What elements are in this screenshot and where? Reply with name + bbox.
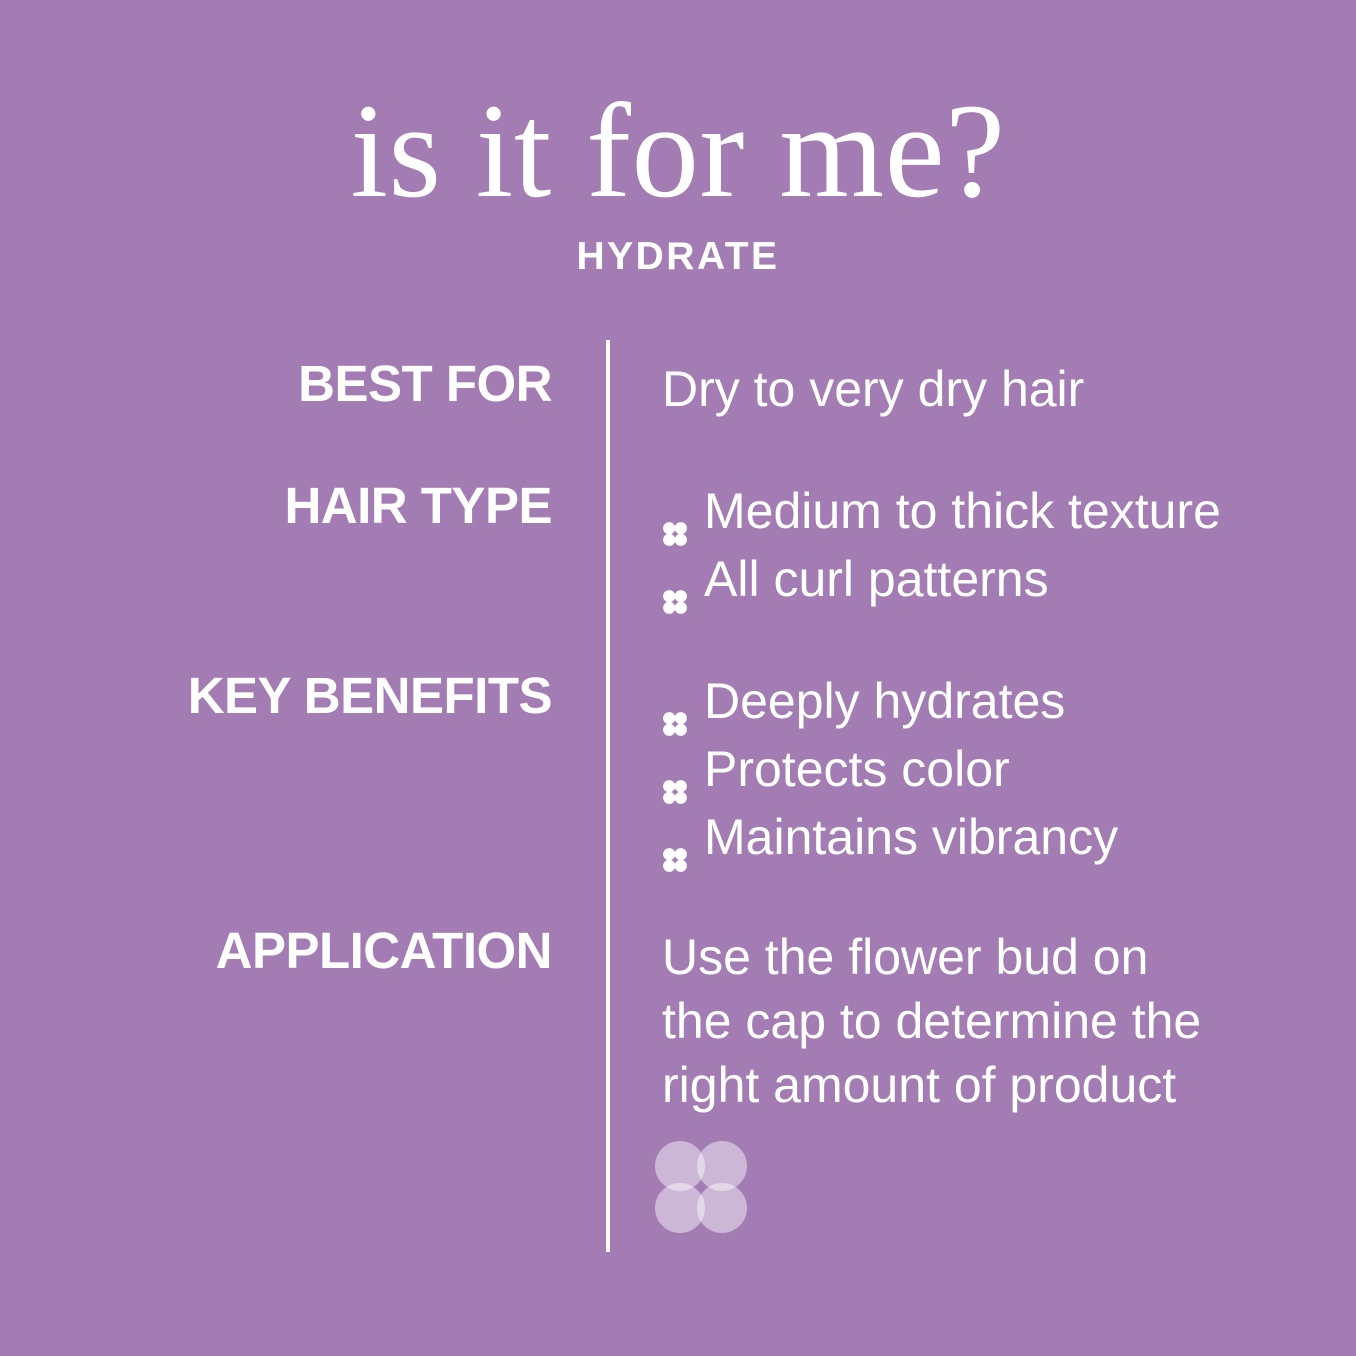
list-item-label: Maintains vibrancy [704,806,1118,868]
row-content-key-benefits: Deeply hydrates Protects color [662,670,1118,874]
list-item-label: Deeply hydrates [704,670,1065,732]
list-item: All curl patterns [662,548,1221,610]
row-label-key-benefits: KEY BENEFITS [0,670,552,721]
flower-quatrefoil-bullet-icon [662,757,688,783]
row-hair-type: HAIR TYPE Medium to thick texture [0,480,1356,616]
row-best-for: BEST FOR Dry to very dry hair [0,358,1356,420]
row-content-application: Use the flower bud on the cap to determi… [662,925,1201,1117]
page-title: is it for me? [0,0,1356,219]
best-for-value: Dry to very dry hair [662,358,1084,420]
application-line-3: right amount of product [662,1053,1201,1117]
flower-quatrefoil-bullet-icon [662,499,688,525]
row-content-hair-type: Medium to thick texture All curl pattern… [662,480,1221,616]
key-benefits-list: Deeply hydrates Protects color [662,670,1118,868]
list-item: Medium to thick texture [662,480,1221,542]
row-label-best-for: BEST FOR [0,358,552,409]
flower-quatrefoil-bullet-icon [662,567,688,593]
row-content-best-for: Dry to very dry hair [662,358,1084,420]
row-application: APPLICATION Use the flower bud on the ca… [0,925,1356,1117]
list-item: Maintains vibrancy [662,806,1118,868]
row-label-application: APPLICATION [0,925,552,976]
page-subtitle: HYDRATE [0,219,1356,279]
list-item: Protects color [662,738,1118,800]
row-label-hair-type: HAIR TYPE [0,480,552,531]
infographic-card: is it for me? HYDRATE BEST FOR Dry to ve… [0,0,1356,1356]
list-item: Deeply hydrates [662,670,1118,732]
list-item-label: Protects color [704,738,1010,800]
application-line-1: Use the flower bud on [662,925,1201,989]
row-key-benefits: KEY BENEFITS Deeply hydrates [0,670,1356,874]
list-item-label: Medium to thick texture [704,480,1221,542]
header: is it for me? HYDRATE [0,0,1356,279]
flower-quatrefoil-logo-icon [655,1141,747,1233]
application-line-2: the cap to determine the [662,989,1201,1053]
list-item-label: All curl patterns [704,548,1049,610]
hair-type-list: Medium to thick texture All curl pattern… [662,480,1221,610]
flower-quatrefoil-bullet-icon [662,825,688,851]
flower-quatrefoil-bullet-icon [662,689,688,715]
